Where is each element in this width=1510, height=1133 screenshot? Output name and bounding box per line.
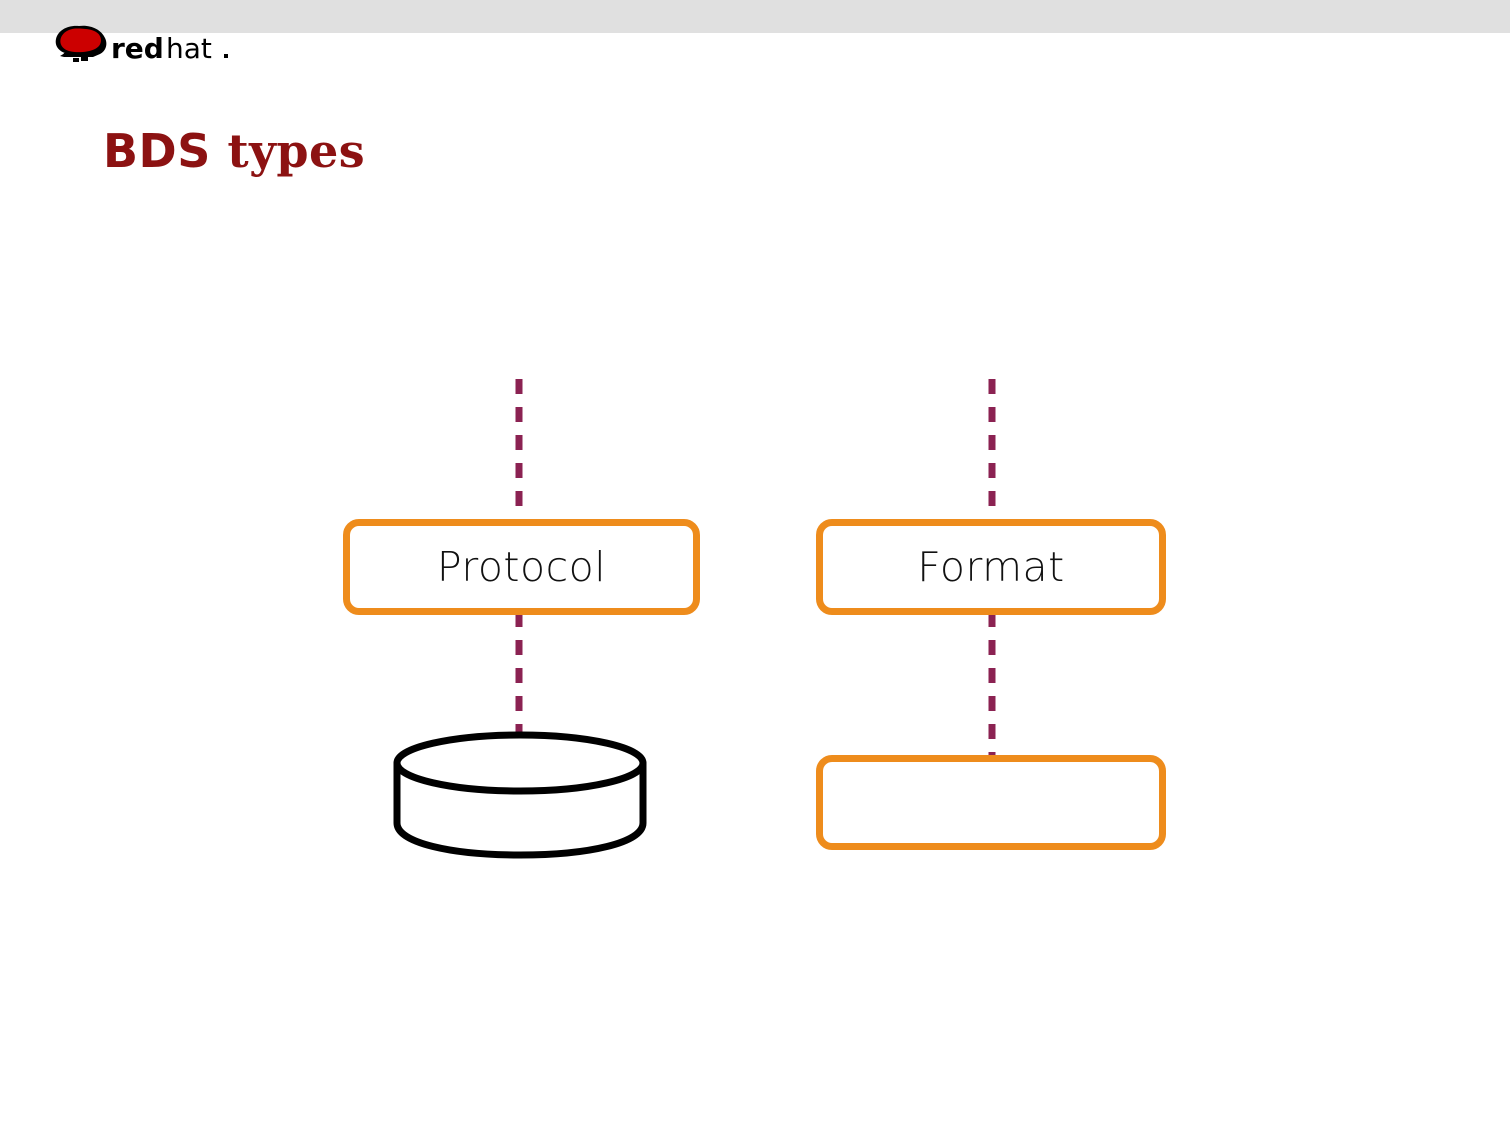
shadowman-icon [56,26,107,62]
wordmark-period [224,54,228,58]
wordmark-red: red [111,32,164,65]
page-title-suffix: types [211,124,365,178]
node-container[interactable] [816,755,1166,850]
node-protocol[interactable]: Protocol [343,519,700,615]
page-title-prefix: BDS [103,124,211,178]
wordmark-hat: hat [166,32,212,65]
node-storage-cylinder[interactable] [392,730,648,862]
node-format-label: Format [917,547,1064,588]
node-format[interactable]: Format [816,519,1166,615]
node-protocol-label: Protocol [437,547,606,588]
slide-canvas: red hat BDS types Protocol Format [0,0,1510,1133]
cylinder-top [397,735,643,791]
redhat-logo: red hat [48,20,248,68]
page-title: BDS types [103,124,365,178]
